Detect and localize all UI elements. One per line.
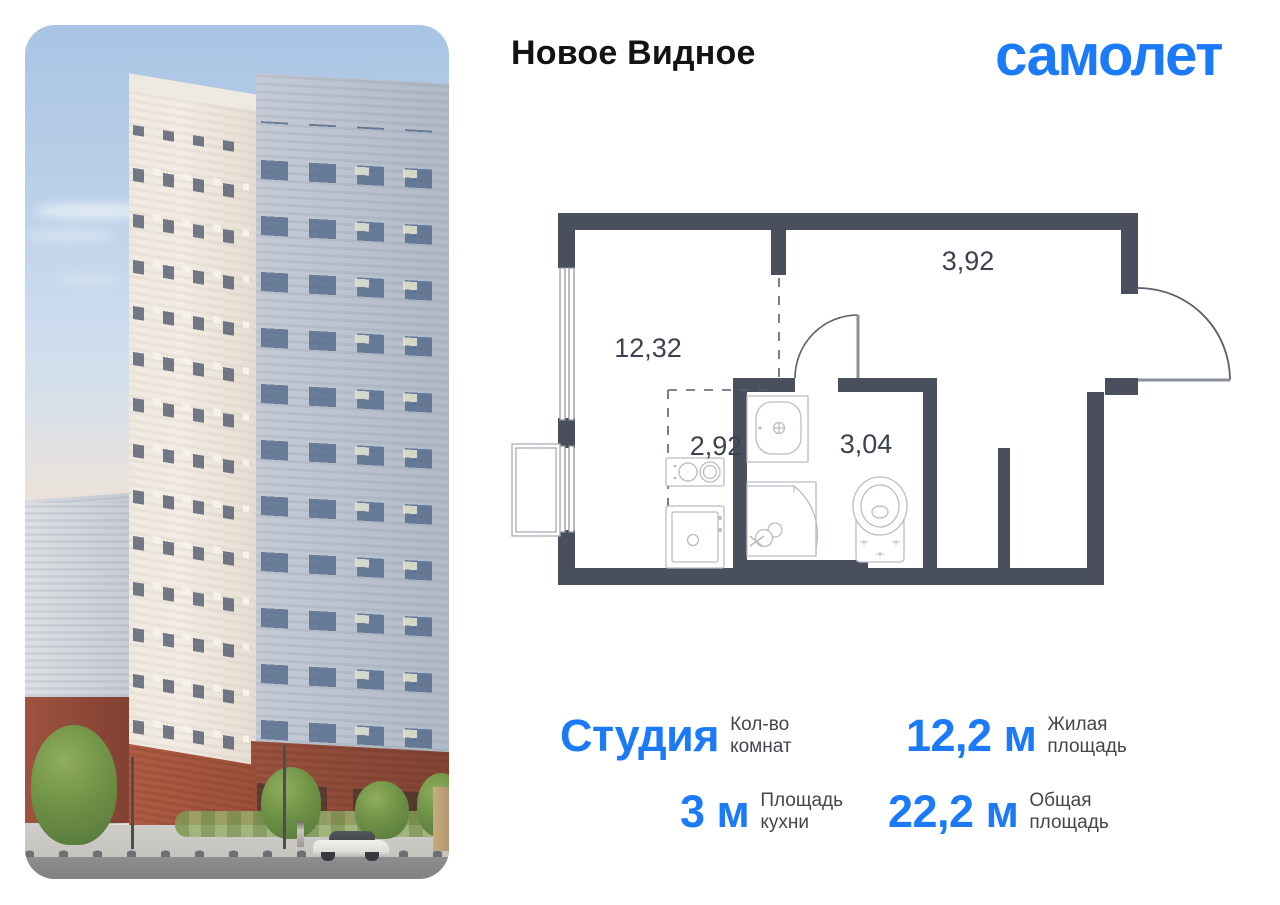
room-area-living: 12,32 (614, 333, 682, 363)
car-wheel (365, 852, 379, 861)
room-area-bathroom: 3,04 (840, 429, 893, 459)
cloud-icon (25, 230, 115, 241)
car (313, 831, 389, 861)
stat-kitchen-area-value: 3 м (680, 786, 749, 838)
stat-room-count-value: Студия (560, 710, 719, 762)
page-title: Новое Видное (511, 34, 756, 73)
floor-fill (570, 213, 1138, 585)
stat-living-area: 12,2 м Жилая площадь (906, 710, 1127, 762)
street-lamp (131, 757, 134, 849)
window (560, 268, 574, 532)
stat-total-area-label: Общая площадь (1029, 790, 1108, 834)
floor-plan: 12,32 3,92 2,92 3,04 (498, 200, 1258, 600)
toilet (853, 477, 907, 562)
entry-door (1138, 288, 1230, 380)
building-render-photo (25, 25, 449, 879)
kiosk (433, 787, 449, 851)
kitchen-fixtures (666, 458, 724, 568)
cloud-icon (55, 275, 125, 284)
shower (747, 482, 816, 556)
floor-plan-svg: 12,32 3,92 2,92 3,04 (498, 200, 1258, 600)
balcony (512, 444, 560, 536)
stat-total-area: 22,2 м Общая площадь (888, 786, 1109, 838)
pedestrian (297, 821, 304, 847)
tree-icon (261, 767, 321, 839)
stat-total-area-value: 22,2 м (888, 786, 1018, 838)
stat-room-count-label: Кол-во комнат (730, 714, 792, 758)
stat-kitchen-area-label: Площадь кухни (760, 790, 843, 834)
stat-living-area-value: 12,2 м (906, 710, 1036, 762)
tree-icon (31, 725, 117, 845)
stat-kitchen-area: 3 м Площадь кухни (680, 786, 843, 838)
room-area-kitchen: 2,92 (690, 431, 743, 461)
tower-balconies-left (137, 156, 249, 835)
apartment-stats: Студия Кол-во комнат 12,2 м Жилая площад… (558, 706, 1248, 856)
brand-logo: самолет (995, 22, 1222, 89)
car-wheel (321, 852, 335, 861)
stat-living-area-label: Жилая площадь (1047, 714, 1126, 758)
room-area-hallway: 3,92 (942, 246, 995, 276)
stat-room-count: Студия Кол-во комнат (560, 710, 792, 762)
street-lamp (283, 745, 286, 849)
